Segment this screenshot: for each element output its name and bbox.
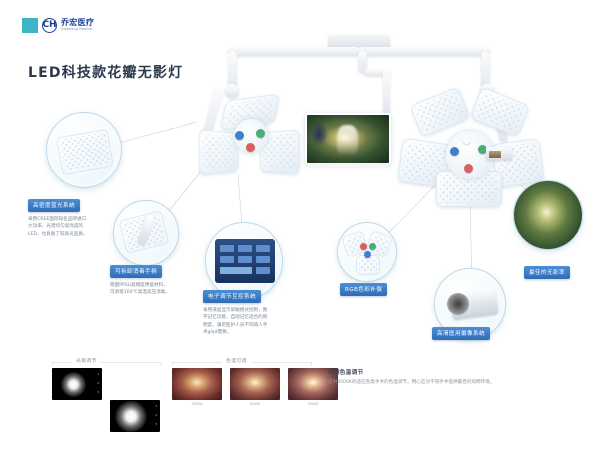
callout-bubble-1: [46, 112, 122, 188]
control-key-6: [256, 256, 270, 263]
lamp-petal-left: [198, 129, 238, 175]
group-rule-left: [52, 362, 162, 363]
light-spot-small: [61, 372, 86, 397]
logo-monogram-icon: CH: [42, 18, 57, 33]
brand-name-en: Qiaohong Medical: [61, 28, 94, 31]
light-spot-large: [115, 401, 147, 432]
logo-accent-bar: [22, 18, 38, 33]
logo-text: 乔宏医疗 Qiaohong Medical: [61, 19, 94, 31]
spot-scale-mark-4: 1: [155, 405, 157, 408]
spot-scale-mark-6: 3: [155, 423, 157, 426]
camera-lens-ring-art: [447, 293, 469, 315]
control-key-1: [220, 245, 234, 252]
callout-tag-1: 高密度蓝光系统: [28, 199, 80, 212]
product-brochure-page: CH 乔宏医疗 Qiaohong Medical LED科技款花瓣无影灯: [0, 0, 600, 450]
bottom-note-heading: 卓越色温调节: [328, 368, 578, 376]
monitor-screen-image: [307, 115, 389, 163]
callout-tag-6: 最佳的无影率: [524, 266, 570, 279]
spot-scale-mark-2: 2: [97, 382, 99, 385]
callout-text-shadowless-rate: 最佳的无影率: [524, 259, 570, 279]
rgb-dot-red: [360, 243, 367, 250]
arm-horizontal-left: [228, 47, 360, 56]
lamp-center-core: [234, 119, 268, 153]
core-indicator-blue: [235, 131, 244, 140]
callout-text-rgb-compensation: RGB色彩补偿: [340, 276, 387, 296]
callout-tag-5: 高清医用摄像系统: [432, 327, 490, 340]
control-key-2: [238, 245, 252, 252]
callout-tag-4: RGB色彩补偿: [340, 283, 387, 296]
core-indicator-blue-large: [450, 147, 459, 156]
bottom-note: 卓越色温调节 提供3500K的适应各类手术的色温调节，用心应对不同手术提供最佳的…: [328, 368, 578, 386]
comparison-caption-3: 5000K: [288, 402, 338, 406]
bottom-note-text: 提供3500K的适应各类手术的色温调节，用心应对不同手术提供最佳的照明环境。: [328, 379, 578, 386]
comparison-shot-spot-1: 1 2 3: [52, 368, 102, 400]
brand-logo: CH 乔宏医疗 Qiaohong Medical: [22, 18, 94, 33]
comparison-caption-2: 4500K: [230, 402, 280, 406]
surgical-field-image: [514, 181, 582, 249]
callout-desc-2: 德国PPSU高端医用级材料，可承受160℃高温高压消毒。: [110, 282, 172, 297]
callout-desc-3: 采用液晶显示屏触摸式控制，数字记忆功能，自动记忆适合的照明度，满足医护人员不同病…: [203, 307, 271, 337]
comparison-caption-1: 3500K: [172, 402, 222, 406]
monitor-base: [308, 163, 388, 167]
ct-image-2: [230, 368, 280, 400]
comparison-shot-ct-1: [172, 368, 222, 400]
callout-art-rgb: [338, 223, 396, 281]
lamp-petal-upper-right: [470, 86, 531, 137]
callout-rgb-compensation[interactable]: [337, 222, 397, 282]
spot-scale-mark-1: 1: [97, 373, 99, 376]
surgical-monitor: [305, 113, 391, 165]
core-indicator-red-large: [464, 164, 473, 173]
callout-bubble-2: [113, 200, 179, 266]
core-indicator-red: [246, 143, 255, 152]
callout-text-hd-camera-system: 高清医用摄像系统: [432, 320, 490, 340]
comparison-shot-spot-2: 1 2 3: [110, 400, 160, 432]
callout-desc-1: 采用CREE国际知名品牌进口大功率、光谱均匀高亮度的LED，也具备了较高光品质。: [28, 216, 90, 239]
arm-monitor-drop: [383, 69, 390, 117]
camera-lens-icon: [489, 151, 501, 158]
ct-image-1: [172, 368, 222, 400]
arm-joint-left: [225, 84, 239, 98]
spot-scale-mark-5: 2: [155, 414, 157, 417]
brand-name-cn: 乔宏医疗: [61, 19, 94, 27]
core-indicator-amber: [462, 135, 471, 144]
comparison-shot-ct-2: [230, 368, 280, 400]
callout-text-detachable-handle: 可拆卸消毒手柄 德国PPSU高端医用级材料，可承受160℃高温高压消毒。: [110, 258, 172, 297]
lamp-head-small: [198, 97, 310, 205]
callout-art-handle: [114, 201, 178, 265]
callout-bubble-4: [337, 222, 397, 282]
control-key-3: [256, 245, 270, 252]
callout-shadowless-rate[interactable]: [513, 180, 583, 250]
callout-tag-3: 电子调节互控系统: [203, 290, 261, 303]
control-key-7: [220, 267, 252, 274]
callout-bubble-6: [513, 180, 583, 250]
callout-art-surgical-field: [514, 181, 582, 249]
control-key-8: [256, 267, 270, 274]
control-key-4: [220, 256, 234, 263]
ceiling-mount: [328, 35, 390, 47]
callout-high-density-light[interactable]: [46, 112, 122, 188]
callout-text-high-density-light: 高密度蓝光系统 采用CREE国际知名品牌进口大功率、光谱均匀高亮度的LED，也具…: [28, 192, 90, 238]
arm-horizontal-right: [358, 47, 490, 56]
core-indicator-green: [256, 129, 265, 138]
led-panel-art: [56, 129, 114, 175]
group-label-right: 色温可调: [222, 357, 251, 364]
callout-art-led-panel: [47, 113, 121, 187]
rgb-panel-c: [356, 255, 380, 275]
group-label-left: 光斑调节: [72, 357, 101, 364]
callout-detachable-handle[interactable]: [113, 200, 179, 266]
lamp-petal-upper-left: [410, 86, 471, 137]
control-key-5: [238, 256, 252, 263]
rgb-dot-blue: [364, 251, 371, 258]
spot-scale-mark-3: 3: [97, 391, 99, 394]
callout-text-electronic-control: 电子调节互控系统 采用液晶显示屏触摸式控制，数字记忆功能，自动记忆适合的照明度，…: [203, 283, 271, 337]
rgb-dot-green: [369, 243, 376, 250]
callout-tag-2: 可拆卸消毒手柄: [110, 265, 162, 278]
